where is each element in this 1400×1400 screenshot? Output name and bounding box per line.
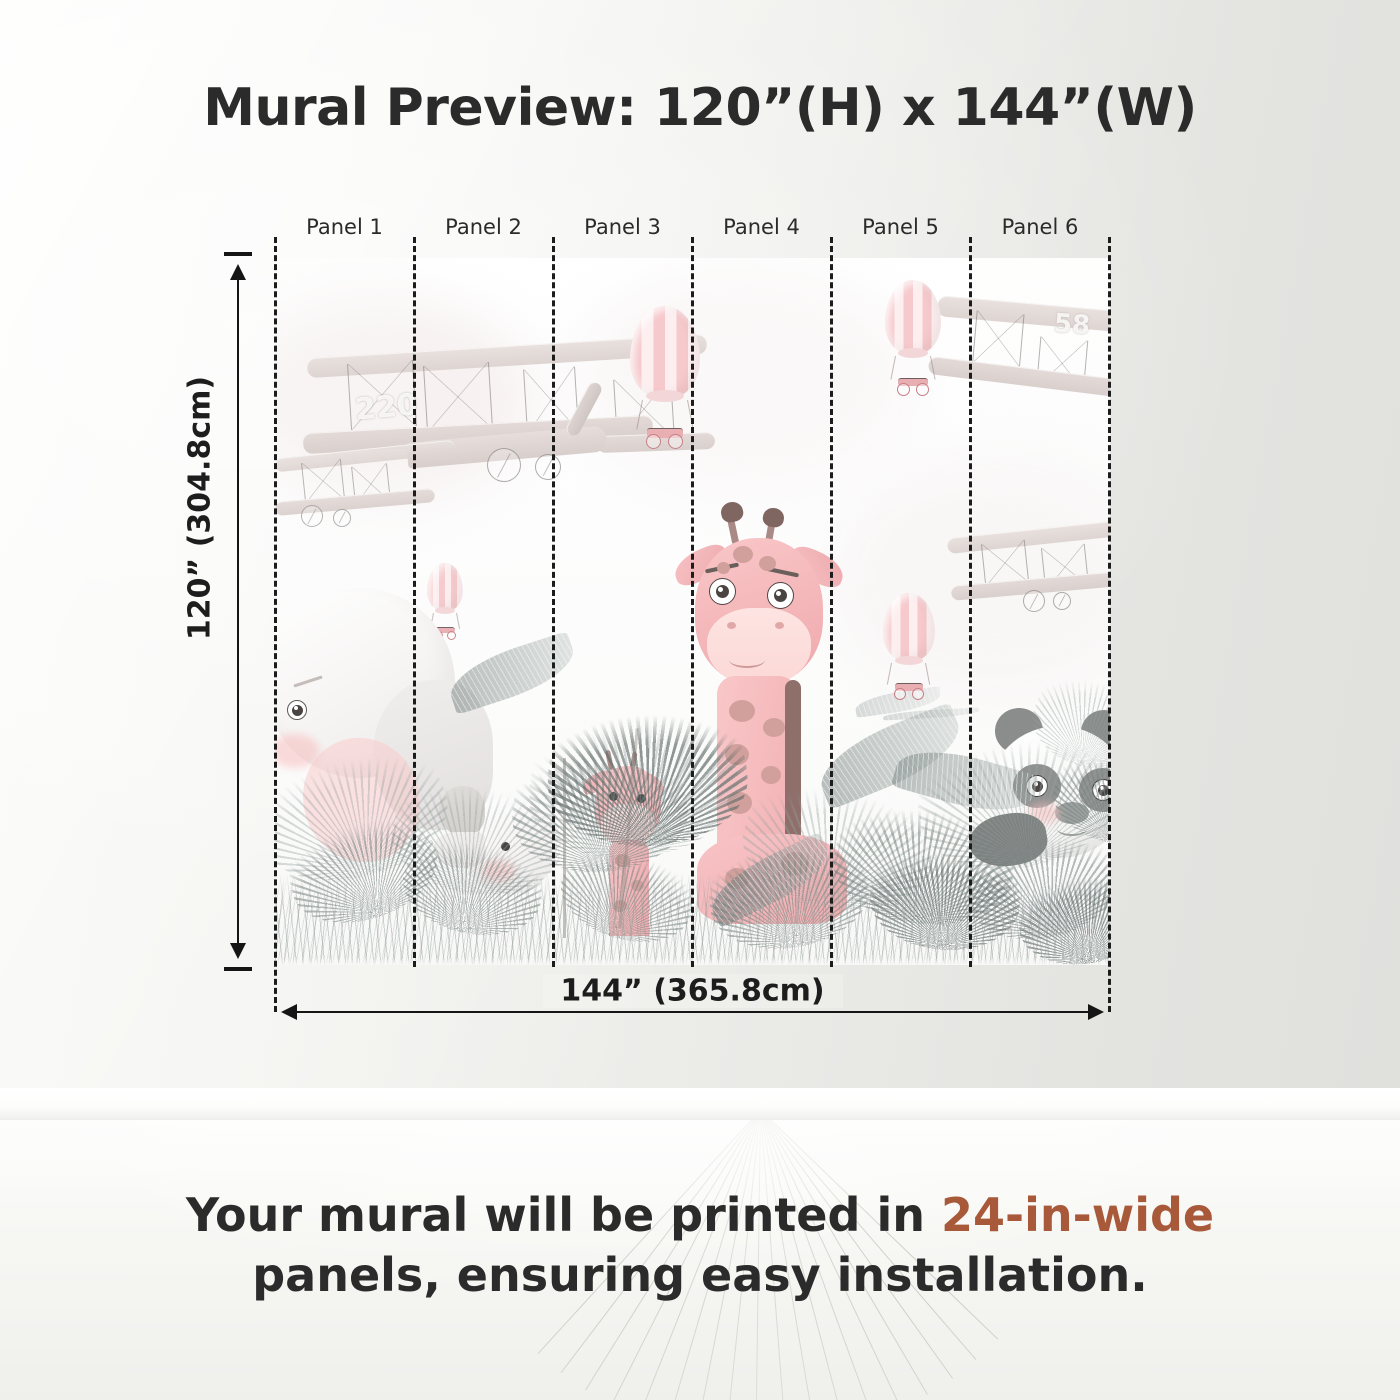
caption-accent: 24-in-wide [941, 1188, 1214, 1242]
giraffe-ossicone-tip [719, 500, 745, 524]
plane-marking: 220 [354, 387, 419, 427]
giraffe-baby-spot [615, 854, 630, 867]
panel-divider-right-edge [1108, 237, 1111, 1012]
giraffe-baby-eye [609, 792, 618, 801]
plane-wheel [487, 448, 521, 482]
panda-eye-glint [1100, 786, 1104, 790]
panel-label-6: Panel 6 [970, 215, 1110, 239]
height-cap-top [224, 252, 252, 256]
height-line [237, 272, 239, 951]
height-label: 120” (304.8cm) [183, 376, 218, 640]
elephant-eye [287, 700, 307, 720]
giraffe-spot [763, 718, 785, 737]
height-arrowhead-bottom [230, 943, 246, 959]
panel-divider-5 [969, 237, 972, 967]
caption-line-2: panels, ensuring easy installation. [0, 1246, 1400, 1306]
balloon-rigging [639, 400, 691, 430]
giraffe-spot [717, 562, 730, 574]
panel-divider-2 [552, 237, 555, 967]
page-title: Mural Preview: 120”(H) x 144”(W) [0, 78, 1400, 138]
balloon-wheel [912, 688, 924, 700]
width-line [289, 1011, 1096, 1013]
hot-air-balloon [630, 306, 700, 446]
giraffe-baby-ossicone [605, 750, 614, 771]
elephant-trunk [303, 738, 419, 862]
balloon-envelope [630, 306, 700, 398]
width-arrowhead-right [1088, 1004, 1104, 1020]
plane-strut [423, 362, 493, 432]
giraffe-nostril [775, 622, 784, 629]
panel-label-1: Panel 1 [275, 215, 414, 239]
balloon-wheel [646, 434, 661, 449]
elephant-baby-trunk [433, 832, 485, 868]
panel-label-2: Panel 2 [414, 215, 553, 239]
caption-line-1-text: Your mural will be printed in [186, 1188, 941, 1242]
giraffe-eye-left [709, 578, 736, 605]
caption-line-1: Your mural will be printed in 24-in-wide [0, 1186, 1400, 1246]
panda-eye [1026, 775, 1048, 797]
plane-wheel [1053, 592, 1071, 610]
width-label: 144” (365.8cm) [542, 974, 842, 1009]
panel-divider-3 [691, 237, 694, 967]
giraffe-spot [727, 792, 752, 814]
balloon-wheel [668, 434, 683, 449]
balloon-rigging [892, 356, 934, 380]
giraffe-nostril [727, 622, 736, 629]
width-dimension-arrow: 144” (365.8cm) [275, 1011, 1110, 1013]
caption: Your mural will be printed in 24-in-wide… [0, 1186, 1400, 1306]
giraffe-eye-right [767, 582, 794, 609]
balloon-wheel [916, 383, 929, 396]
panel-divider-left-edge [274, 237, 277, 1012]
panel-divider-1 [413, 237, 416, 967]
balloon-wheel [897, 383, 910, 396]
giraffe-baby-eye [637, 794, 646, 803]
giraffe-eye-glint [718, 587, 723, 592]
hot-air-balloon [885, 280, 941, 395]
plane-wheel [535, 454, 561, 480]
giraffe-mane [785, 680, 801, 860]
panel-label-4: Panel 4 [692, 215, 831, 239]
giraffe-spot [725, 744, 749, 765]
balloon-envelope [885, 280, 941, 354]
giraffe-spot [729, 700, 755, 722]
giraffe-spot [759, 556, 776, 571]
plane-wheel [1023, 590, 1045, 612]
panel-label-3: Panel 3 [553, 215, 692, 239]
height-cap-bottom [224, 967, 252, 971]
height-dimension-arrow [237, 258, 239, 965]
elephant-baby-ear [439, 786, 485, 836]
giraffe-large [671, 504, 901, 904]
plane-marking: 58 [1053, 309, 1091, 341]
giraffe-eye-glint [776, 591, 781, 596]
elephant-baby-eye [501, 842, 510, 851]
plane-wheel [333, 509, 351, 527]
baseboard [0, 1088, 1400, 1122]
panel-divider-4 [830, 237, 833, 967]
giraffe-mouth [729, 652, 765, 668]
giraffe-ossicone-tip [762, 506, 786, 528]
panda-mouth [1057, 822, 1087, 836]
plane-wheel [301, 505, 323, 527]
giraffe-muzzle [707, 608, 811, 686]
panda-eye-patch [1013, 764, 1061, 808]
elephant-eye-glint [294, 706, 298, 710]
giraffe-spot [733, 546, 753, 563]
giraffe-spot [761, 766, 781, 784]
panel-label-5: Panel 5 [831, 215, 970, 239]
panda-eye-glint [1034, 782, 1038, 786]
biplane-small-left [275, 443, 475, 533]
